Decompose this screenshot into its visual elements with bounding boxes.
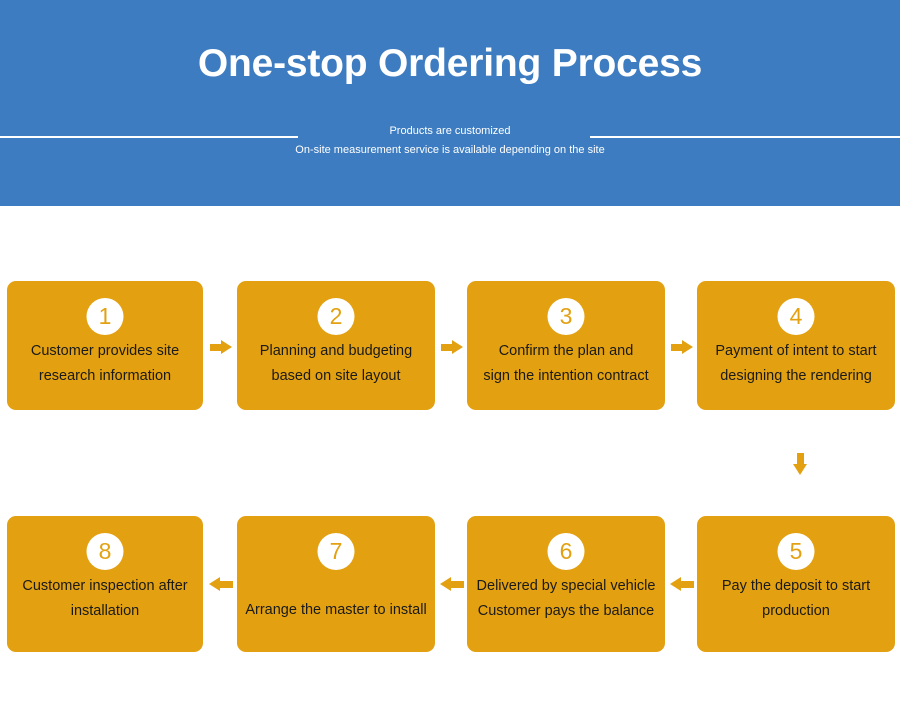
page-title: One-stop Ordering Process xyxy=(0,41,900,87)
page-header: One-stop Ordering Process Products are c… xyxy=(0,0,900,206)
step-label-5-line-2: production xyxy=(703,599,889,624)
step-number-badge-6: 6 xyxy=(548,533,585,570)
step-number-badge-3: 3 xyxy=(548,298,585,335)
process-step-6[interactable]: 6 Delivered by special vehicle Customer … xyxy=(467,516,665,652)
process-step-4[interactable]: 4 Payment of intent to start designing t… xyxy=(697,281,895,410)
process-step-8[interactable]: 8 Customer inspection after installation xyxy=(7,516,203,652)
header-subtitle-line-2: On-site measurement service is available… xyxy=(0,143,900,158)
step-label-6: Delivered by special vehicle Customer pa… xyxy=(473,574,659,624)
process-step-3[interactable]: 3 Confirm the plan and sign the intentio… xyxy=(467,281,665,410)
process-step-2[interactable]: 2 Planning and budgeting based on site l… xyxy=(237,281,435,410)
step-label-7-line-1: Arrange the master to install xyxy=(245,602,426,618)
step-label-1-line-1: Customer provides site xyxy=(31,343,179,359)
process-step-7[interactable]: 7 Arrange the master to install xyxy=(237,516,435,652)
step-label-6-line-1: Delivered by special vehicle xyxy=(477,578,656,594)
step-label-8: Customer inspection after installation xyxy=(13,574,197,624)
step-label-3: Confirm the plan and sign the intention … xyxy=(473,339,659,389)
step-label-8-line-2: installation xyxy=(13,599,197,624)
step-label-1: Customer provides site research informat… xyxy=(13,339,197,389)
step-number-badge-2: 2 xyxy=(318,298,355,335)
process-step-5[interactable]: 5 Pay the deposit to start production xyxy=(697,516,895,652)
step-label-3-line-2: sign the intention contract xyxy=(473,364,659,389)
step-label-5: Pay the deposit to start production xyxy=(703,574,889,624)
step-label-2-line-1: Planning and budgeting xyxy=(260,343,412,359)
process-flow-diagram: 1 Customer provides site research inform… xyxy=(0,206,900,719)
step-number-badge-7: 7 xyxy=(318,533,355,570)
step-label-4-line-1: Payment of intent to start xyxy=(715,343,876,359)
step-label-3-line-1: Confirm the plan and xyxy=(499,343,634,359)
step-label-7: Arrange the master to install xyxy=(243,598,429,623)
step-number-badge-5: 5 xyxy=(778,533,815,570)
step-label-2-line-2: based on site layout xyxy=(243,364,429,389)
step-label-1-line-2: research information xyxy=(13,364,197,389)
step-number-badge-1: 1 xyxy=(87,298,124,335)
step-label-2: Planning and budgeting based on site lay… xyxy=(243,339,429,389)
step-number-badge-8: 8 xyxy=(87,533,124,570)
step-label-4: Payment of intent to start designing the… xyxy=(703,339,889,389)
header-subtitle-line-1: Products are customized xyxy=(0,124,900,139)
step-label-5-line-1: Pay the deposit to start xyxy=(722,578,870,594)
step-label-4-line-2: designing the rendering xyxy=(703,364,889,389)
step-label-6-line-2: Customer pays the balance xyxy=(473,599,659,624)
process-step-1[interactable]: 1 Customer provides site research inform… xyxy=(7,281,203,410)
step-label-8-line-1: Customer inspection after xyxy=(22,578,187,594)
step-number-badge-4: 4 xyxy=(778,298,815,335)
